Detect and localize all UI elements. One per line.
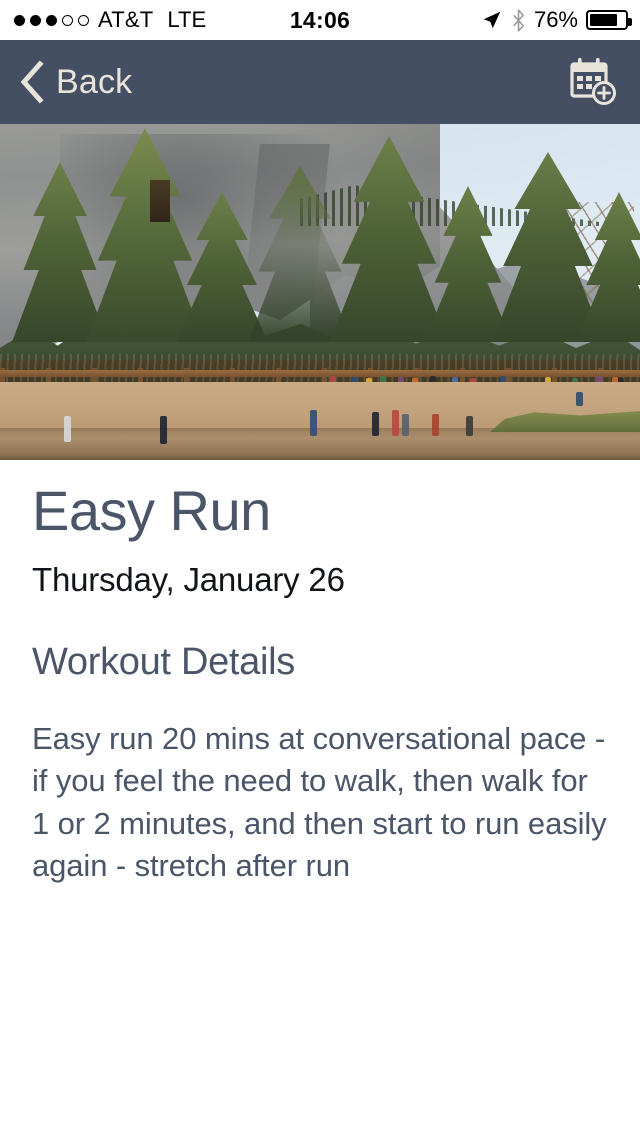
calendar-add-icon[interactable]: [566, 56, 618, 108]
status-bar: AT&T LTE 14:06 76%: [0, 0, 640, 40]
person-figure: [466, 416, 473, 436]
workout-detail-content: Easy Run Thursday, January 26 Workout De…: [0, 460, 640, 888]
bluetooth-icon: [511, 9, 526, 32]
bridge-pier: [150, 180, 170, 222]
person-figure: [402, 414, 409, 436]
battery-icon: [586, 10, 628, 30]
person-figure: [576, 392, 583, 406]
app-screen: AT&T LTE 14:06 76% Back: [0, 0, 640, 1136]
person-figure: [310, 410, 317, 436]
hero-photo: [0, 124, 640, 460]
page-title: Easy Run: [32, 482, 608, 541]
person-figure: [392, 410, 399, 436]
section-heading-workout-details: Workout Details: [32, 641, 608, 684]
location-arrow-icon: [481, 9, 503, 31]
battery-percent-label: 76%: [534, 7, 578, 33]
workout-date: Thursday, January 26: [32, 561, 608, 599]
back-button-label: Back: [56, 63, 132, 102]
person-figure: [372, 412, 379, 436]
person-figure: [64, 416, 71, 442]
person-figure: [160, 416, 167, 444]
status-bar-right: 76%: [481, 0, 628, 40]
chevron-left-icon: [18, 60, 44, 104]
person-figure: [432, 414, 439, 436]
workout-details-body: Easy run 20 mins at conversational pace …: [32, 718, 608, 888]
back-button[interactable]: Back: [18, 60, 132, 104]
navigation-bar: Back: [0, 40, 640, 124]
